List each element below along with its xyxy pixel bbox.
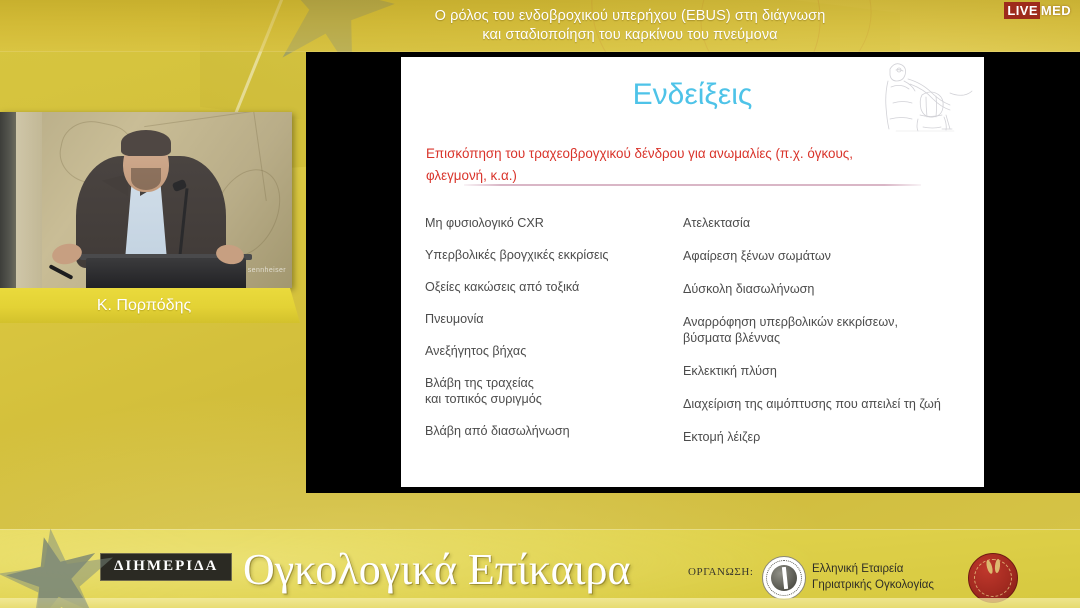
event-title: Ογκολογικά Επίκαιρα [243,544,631,596]
speaker-name: Κ. Πορπόδης [0,288,288,323]
list-item: Αναρρόφηση υπερβολικών εκκρίσεων, βύσματ… [683,314,973,346]
list-item: Εκτομή λέιζερ [683,429,973,445]
speaker-beard [131,168,161,190]
presentation-title-line-1: Ο ρόλος του ενδοβροχικού υπερήχου (EBUS)… [300,7,960,26]
slide-title: Ενδείξεις [401,77,984,113]
organizer-name: Ελληνική Εταιρεία Γηριατρικής Ογκολογίας [812,561,972,593]
footer-bottom-strip [0,598,1080,608]
footer-banner: ΔΙΗΜΕΡΙΔΑ Ογκολογικά Επίκαιρα ΟΡΓΑΝΩΣΗ: … [0,529,1080,608]
list-item: Βλάβη από διασωλήνωση [425,423,675,439]
university-seal-icon [968,553,1018,603]
presentation-title-line-2: και σταδιοποίηση του καρκίνου του πνεύμο… [300,26,960,45]
speaker-hair [121,130,171,156]
list-item: Ανεξήγητος βήχας [425,343,675,359]
organizer-label: ΟΡΓΑΝΩΣΗ: [688,566,754,578]
livemed-logo: LIVEMED [1004,3,1075,18]
slide-lede-text: Επισκόπηση του τραχεοβρογχικού δένδρου γ… [426,143,906,187]
list-item: Δύσκολη διασωλήνωση [683,281,973,297]
list-item: Πνευμονία [425,311,675,327]
list-item: Υπερβολικές βρογχικές εκκρίσεις [425,247,675,263]
hellenic-society-seal-icon [762,556,806,600]
slide-bullets-left: Μη φυσιολογικό CXR Υπερβολικές βρογχικές… [425,215,675,455]
list-item: Οξείες κακώσεις από τοξικά [425,279,675,295]
seal-hare-body [982,565,1004,591]
list-item: Διαχείριση της αιμόπτυσης που απειλεί τη… [683,396,973,412]
presentation-slide: Ενδείξεις Επισκόπηση του τραχεοβρογχικού… [401,57,984,487]
list-item: Εκλεκτική πλύση [683,363,973,379]
livemed-logo-med: MED [1040,2,1075,19]
video-doorframe [0,112,16,288]
broadcast-stage: Ο ρόλος του ενδοβροχικού υπερήχου (EBUS)… [0,0,1080,608]
podium [86,258,246,288]
list-item: Μη φυσιολογικό CXR [425,215,675,231]
video-wall-panel [16,112,42,288]
slide-bullets-right: Ατελεκτασία Αφαίρεση ξένων σωμάτων Δύσκο… [683,215,973,462]
organizer-name-line-1: Ελληνική Εταιρεία [812,561,972,577]
event-type-badge: ΔΙΗΜΕΡΙΔΑ [100,553,232,581]
list-item: Αφαίρεση ξένων σωμάτων [683,248,973,264]
header-banner: Ο ρόλος του ενδοβροχικού υπερήχου (EBUS)… [0,0,1080,52]
list-item: Ατελεκτασία [683,215,973,231]
list-item: Βλάβη της τραχείας και τοπικός συριγμός [425,375,675,407]
speaker-video[interactable]: sennheiser [0,112,292,288]
livemed-logo-live: LIVE [1004,2,1040,19]
equipment-watermark: sennheiser [248,267,286,274]
speaker-nameplate: Κ. Πορπόδης [0,288,300,323]
organizer-name-line-2: Γηριατρικής Ογκολογίας [812,577,972,593]
presentation-title: Ο ρόλος του ενδοβροχικού υπερήχου (EBUS)… [300,7,960,45]
